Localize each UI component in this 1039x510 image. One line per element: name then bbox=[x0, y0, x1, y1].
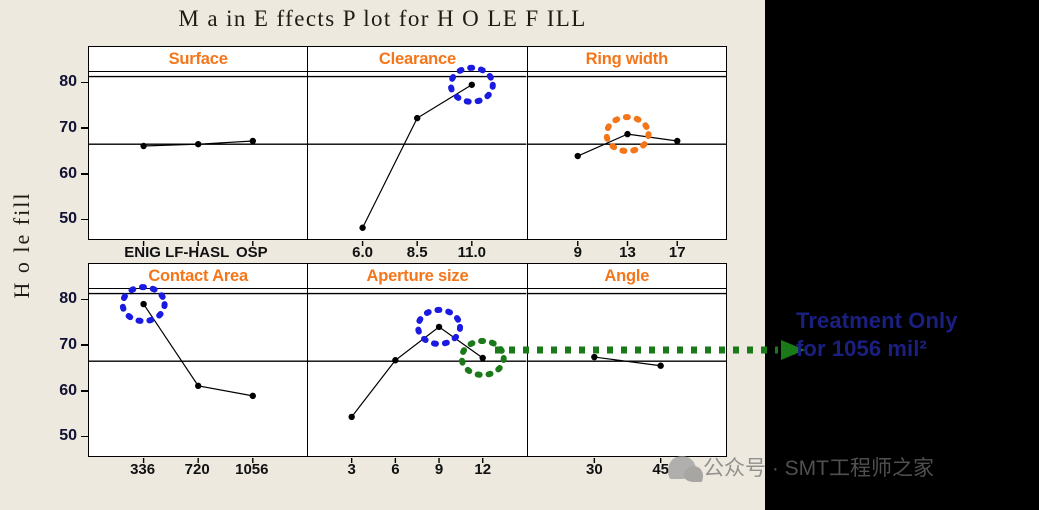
y-tick-label: 80 bbox=[59, 290, 77, 308]
panel-title: Ring width bbox=[528, 47, 726, 72]
panel-plot-area bbox=[308, 289, 526, 456]
x-tick-label: 9 bbox=[435, 461, 443, 478]
y-tick: 80 bbox=[59, 73, 88, 91]
x-tick-label: LF-HASL bbox=[165, 244, 229, 261]
panel-contact-area: Contact Area bbox=[89, 264, 308, 456]
x-tick-label: 6.0 bbox=[352, 244, 373, 261]
y-tick: 50 bbox=[59, 210, 88, 228]
panel-surface: Surface bbox=[89, 47, 308, 239]
panel-plot-area bbox=[528, 72, 726, 239]
y-tick-label: 60 bbox=[59, 382, 77, 400]
chart-figure: M a in E ffects P lot for H O LE F ILL H… bbox=[0, 0, 765, 510]
panel-title: Aperture size bbox=[308, 264, 526, 289]
panel-ring-width: Ring width bbox=[528, 47, 726, 239]
x-tick-label: 9 bbox=[574, 244, 582, 261]
x-tick-label: 13 bbox=[619, 244, 636, 261]
y-tick-label: 50 bbox=[59, 427, 77, 445]
x-tick-label: 8.5 bbox=[407, 244, 428, 261]
callout-arrow bbox=[495, 338, 815, 362]
y-tick-mark bbox=[81, 436, 88, 438]
panel-plot-area bbox=[308, 72, 526, 239]
y-tick: 70 bbox=[59, 336, 88, 354]
y-tick-label: 70 bbox=[59, 119, 77, 137]
x-tick-label: 720 bbox=[185, 461, 210, 478]
screenshot-root: M a in E ffects P lot for H O LE F ILL H… bbox=[0, 0, 1039, 510]
y-tick-mark bbox=[81, 344, 88, 346]
y-axis-top: 50607080 bbox=[42, 71, 88, 240]
y-tick: 60 bbox=[59, 382, 88, 400]
x-tick-label: 17 bbox=[669, 244, 686, 261]
panel-title: Contact Area bbox=[89, 264, 307, 289]
y-tick-mark bbox=[81, 173, 88, 175]
y-tick: 80 bbox=[59, 290, 88, 308]
y-tick: 60 bbox=[59, 165, 88, 183]
x-tick-label: 336 bbox=[130, 461, 155, 478]
y-tick-mark bbox=[81, 390, 88, 392]
panel-plot-area bbox=[528, 289, 726, 456]
watermark-text: 公众号 · SMT工程师之家 bbox=[703, 452, 934, 482]
panel-plot-area bbox=[89, 289, 307, 456]
y-tick-mark bbox=[81, 82, 88, 84]
x-tick-label: 12 bbox=[474, 461, 491, 478]
panel-plot-area bbox=[89, 72, 307, 239]
y-tick-label: 50 bbox=[59, 210, 77, 228]
chart-title: M a in E ffects P lot for H O LE F ILL bbox=[0, 6, 765, 32]
x-axis-labels-bottom: 3367201056369123045 bbox=[88, 461, 727, 483]
y-tick-mark bbox=[81, 127, 88, 129]
x-tick-label: 30 bbox=[586, 461, 603, 478]
y-tick: 50 bbox=[59, 427, 88, 445]
x-tick-label: 11.0 bbox=[458, 244, 486, 261]
panel-clearance: Clearance bbox=[308, 47, 527, 239]
y-tick-label: 70 bbox=[59, 336, 77, 354]
wechat-icon bbox=[668, 456, 696, 479]
panel-title: Clearance bbox=[308, 47, 526, 72]
x-tick-label: 45 bbox=[652, 461, 669, 478]
annotation-line-1: Treatment Only bbox=[796, 307, 1031, 335]
y-tick: 70 bbox=[59, 119, 88, 137]
y-axis-label: H o le fill bbox=[9, 135, 35, 355]
y-axis-bottom: 50607080 bbox=[42, 288, 88, 457]
x-tick-label: 3 bbox=[348, 461, 356, 478]
y-tick-mark bbox=[81, 299, 88, 301]
panel-title: Surface bbox=[89, 47, 307, 72]
x-tick-label: 1056 bbox=[235, 461, 268, 478]
y-tick-label: 60 bbox=[59, 165, 77, 183]
x-tick-label: 6 bbox=[391, 461, 399, 478]
x-tick-label: ENIG bbox=[124, 244, 161, 261]
y-tick-label: 80 bbox=[59, 73, 77, 91]
panel-title: Angle bbox=[528, 264, 726, 289]
watermark: 公众号 · SMT工程师之家 bbox=[668, 452, 934, 482]
y-tick-mark bbox=[81, 219, 88, 221]
treatment-annotation: Treatment Only for 1056 mil² bbox=[796, 307, 1031, 362]
x-tick-label: OSP bbox=[236, 244, 268, 261]
annotation-line-2: for 1056 mil² bbox=[796, 335, 1031, 363]
